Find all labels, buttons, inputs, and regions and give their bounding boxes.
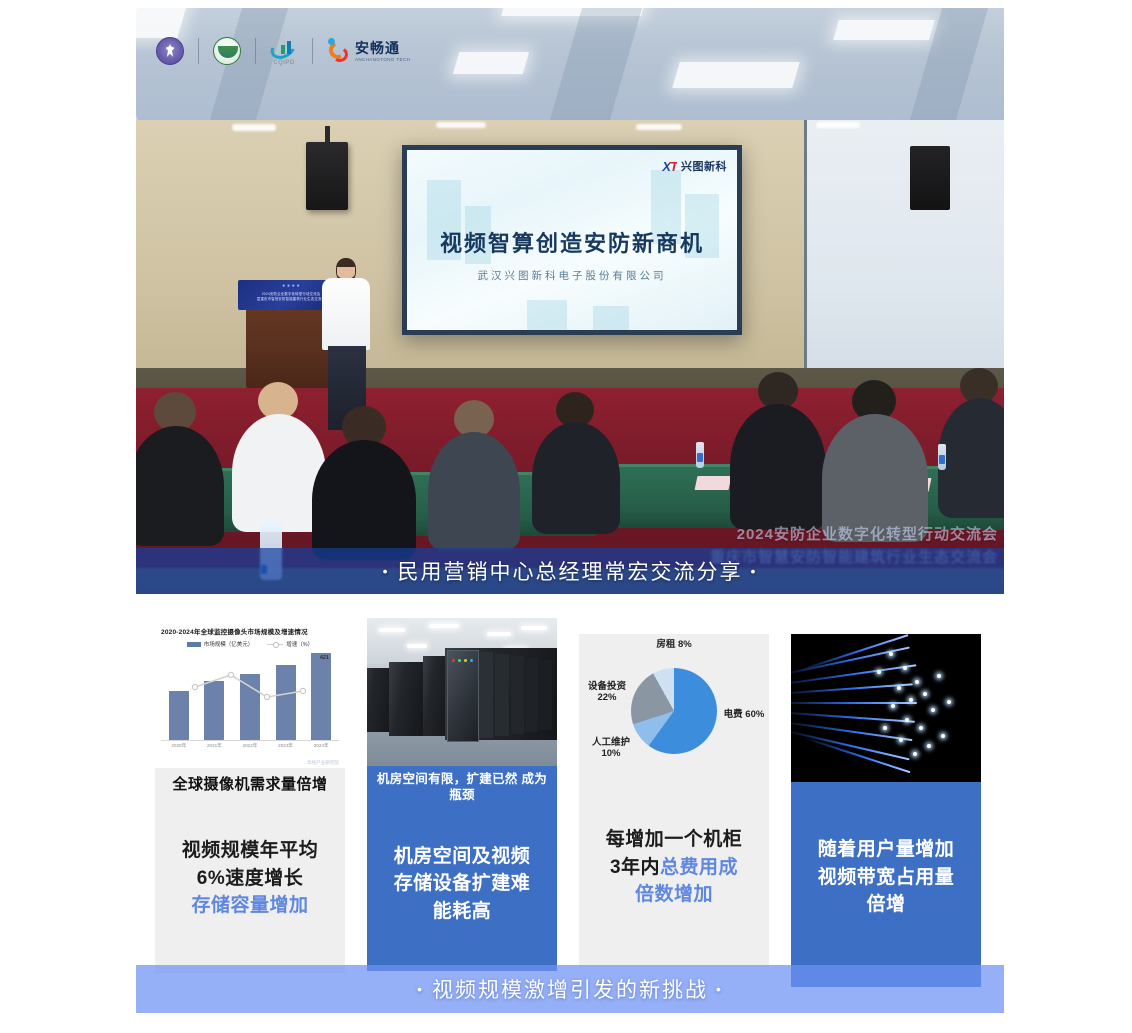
chart-title: 2020-2024年全球监控摄像头市场规模及增速情况 xyxy=(161,626,339,636)
chart-x-axis: 2020年 2021年 2022年 2023年 2024年 xyxy=(161,743,339,749)
card1-subtitle: 全球摄像机需求量倍增 xyxy=(155,768,345,798)
photo-caption-band: • 民用营销中心总经理常宏交流分享 • xyxy=(136,548,1004,594)
logo-divider xyxy=(312,38,313,64)
card3-line2-blue: 总费用成 xyxy=(660,857,738,878)
challenge-cards-row: 2020-2024年全球监控摄像头市场规模及增速情况 市场规模（亿美元） 增速（… xyxy=(136,620,1004,993)
footer-caption-text: 视频规模激增引发的新挑战 xyxy=(432,974,708,1004)
backdrop-banner-line1: 2024安防企业数字化转型行动交流会 xyxy=(684,524,998,547)
anchangtong-logo-sublabel: ANCHANGTONG TECH xyxy=(355,57,410,62)
chart-source-label: 华经产业研究院 xyxy=(307,760,339,766)
slide-subtitle: 武汉兴图新科电子股份有限公司 xyxy=(407,268,737,283)
ceiling-light xyxy=(436,122,486,128)
table-document xyxy=(695,476,732,490)
x-tick-2021: 2021年 xyxy=(207,743,222,749)
anchangtong-logo-label: 安畅通 xyxy=(355,41,410,55)
logo-divider xyxy=(255,38,256,64)
conference-hall-photo: XT 兴图新科 视频智算创造安防新商机 武汉兴图新科电子股份有限公司 ● ● ●… xyxy=(136,120,1004,594)
ceiling-light xyxy=(816,122,860,128)
ceiling-light xyxy=(232,124,276,131)
ceiling-speaker xyxy=(910,146,950,210)
photo-caption-text: 民用营销中心总经理常宏交流分享 xyxy=(398,556,743,586)
x-tick-2023: 2023年 xyxy=(278,743,293,749)
xintu-brand-cn: 兴图新科 xyxy=(681,158,727,174)
ceiling-speaker xyxy=(306,142,348,210)
x-tick-2020: 2020年 xyxy=(171,743,186,749)
slide-title: 视频智算创造安防新商机 xyxy=(407,226,737,258)
card3-line2-dark: 3年内 xyxy=(610,857,660,878)
page-root: CQIPD 安畅通 ANCHANGTONG TECH xyxy=(0,0,1132,1033)
pie-graphic xyxy=(631,668,717,754)
attendee-body xyxy=(730,404,826,530)
caption-bullet-right: • xyxy=(751,563,758,579)
card1-line1: 视频规模年平均 xyxy=(182,837,319,865)
footer-caption-band: • 视频规模激增引发的新挑战 • xyxy=(136,965,1004,1013)
x-tick-2022: 2022年 xyxy=(243,743,258,749)
card3-line3: 倍数增加 xyxy=(606,881,743,909)
anchangtong-logo-icon: 安畅通 ANCHANGTONG TECH xyxy=(327,38,410,64)
card1-line3: 存储容量增加 xyxy=(182,892,319,920)
pie-label-equipment: 设备投资 22% xyxy=(585,682,629,704)
chart-growth-line xyxy=(161,653,339,741)
footer-bullet-right: • xyxy=(716,981,723,997)
purple-institution-emblem-icon xyxy=(156,37,184,65)
projection-screen: XT 兴图新科 视频智算创造安防新商机 武汉兴图新科电子股份有限公司 xyxy=(402,145,742,335)
legend-swatch-line xyxy=(267,644,283,645)
attendee-body xyxy=(822,414,928,542)
operating-cost-pie-chart: 房租 8% 设备投资 22% 人工维护 10% 电费 60% xyxy=(579,634,769,782)
card-camera-demand: 2020-2024年全球监控摄像头市场规模及增速情况 市场规模（亿美元） 增速（… xyxy=(155,620,345,973)
footer-bullet-left: • xyxy=(417,981,424,997)
card2-line3: 能耗高 xyxy=(394,898,531,926)
pie-label-rent: 房租 8% xyxy=(656,640,691,651)
green-institution-emblem-icon xyxy=(213,37,241,65)
card2-line2: 存储设备扩建难 xyxy=(394,870,531,898)
cqipd-logo-label: CQIPD xyxy=(273,60,295,66)
card-cost-pie: 房租 8% 设备投资 22% 人工维护 10% 电费 60% 每增加一个机柜 3… xyxy=(579,634,769,967)
global-camera-market-chart: 2020-2024年全球监控摄像头市场规模及增速情况 市场规模（亿美元） 增速（… xyxy=(155,620,345,768)
card4-line1: 随着用户量增加 xyxy=(818,836,955,864)
pie-label-maintenance: 人工维护 10% xyxy=(583,738,639,760)
water-bottle xyxy=(938,444,946,470)
xintu-brand-logo: XT 兴图新科 xyxy=(662,158,727,174)
card3-line1: 每增加一个机柜 xyxy=(606,826,743,854)
card-bandwidth: 随着用户量增加 视频带宽占用量 倍增 xyxy=(791,634,981,987)
chart-data-label-2024: 421 xyxy=(320,655,329,661)
card2-subtitle-line1: 机房空间有限，扩建已然 xyxy=(377,772,518,786)
card2-body: 机房空间及视频 存储设备扩建难 能耗高 xyxy=(367,811,557,971)
presenter-body xyxy=(322,278,370,350)
chart-plot-area: 421 xyxy=(161,653,339,741)
xintu-brand-en: XT xyxy=(662,159,677,174)
server-room-photo xyxy=(367,618,557,766)
logo-divider xyxy=(198,38,199,64)
card4-line3: 倍增 xyxy=(818,891,955,919)
ceiling-light xyxy=(636,124,682,130)
caption-bullet-left: • xyxy=(383,563,390,579)
card1-line2: 6%速度增长 xyxy=(182,865,319,893)
card4-line2: 视频带宽占用量 xyxy=(818,864,955,892)
conference-photo-block: CQIPD 安畅通 ANCHANGTONG TECH xyxy=(136,8,1004,594)
card-server-room: 机房空间有限，扩建已然 成为瓶颈 机房空间及视频 存储设备扩建难 能耗高 xyxy=(367,618,557,971)
x-tick-2024: 2024年 xyxy=(314,743,329,749)
legend-label-market-size: 市场规模（亿美元） xyxy=(204,640,254,648)
legend-swatch-bar xyxy=(187,642,201,647)
chart-legend: 市场规模（亿美元） 增速（%） xyxy=(161,640,339,648)
attendee-body xyxy=(428,432,520,550)
card2-subtitle: 机房空间有限，扩建已然 成为瓶颈 xyxy=(367,766,557,811)
card2-line1: 机房空间及视频 xyxy=(394,843,531,871)
attendee-body xyxy=(532,422,620,534)
water-bottle xyxy=(696,442,704,468)
attendee-body xyxy=(136,426,224,546)
logo-bar: CQIPD 安畅通 ANCHANGTONG TECH xyxy=(156,34,410,68)
pie-label-electricity: 电费 60% xyxy=(723,710,765,721)
ceiling-strip: CQIPD 安畅通 ANCHANGTONG TECH xyxy=(136,8,1004,120)
card1-body: 视频规模年平均 6%速度增长 存储容量增加 xyxy=(155,798,345,973)
fiber-optic-photo xyxy=(791,634,981,782)
card3-body: 每增加一个机柜 3年内总费用成 倍数增加 xyxy=(579,782,769,967)
cqipd-logo-icon: CQIPD xyxy=(270,37,298,66)
card4-body: 随着用户量增加 视频带宽占用量 倍增 xyxy=(791,782,981,987)
legend-label-growth: 增速（%） xyxy=(286,640,313,648)
attendee-body xyxy=(312,440,416,560)
